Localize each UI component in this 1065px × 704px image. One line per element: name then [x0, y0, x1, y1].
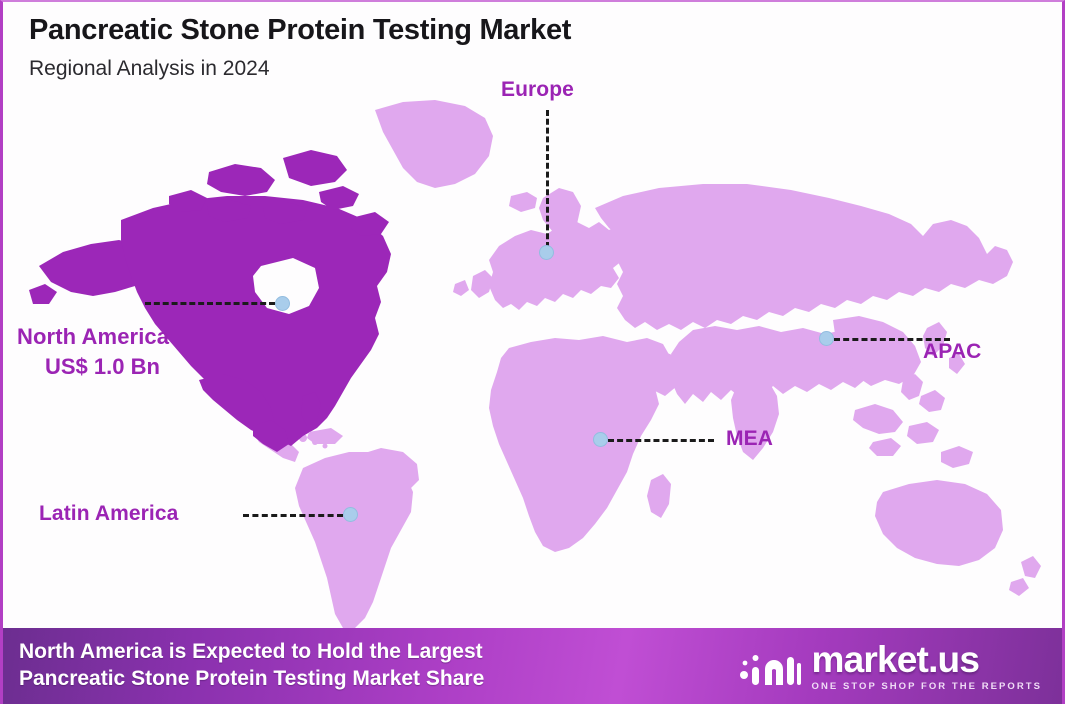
footer-headline: North America is Expected to Hold the La… [19, 639, 484, 692]
region-value-north-america: US$ 1.0 Bn [45, 354, 160, 380]
leader-line-latin-america [243, 514, 343, 517]
region-label-apac: APAC [923, 340, 981, 364]
brand-wordmark: market.us ONE STOP SHOP FOR THE REPORTS [812, 641, 1042, 692]
brand-tagline: ONE STOP SHOP FOR THE REPORTS [812, 681, 1042, 692]
leader-line-north-america [145, 302, 275, 305]
market-us-logo-icon [739, 643, 801, 689]
map-marker-apac[interactable] [819, 331, 834, 346]
page-title: Pancreatic Stone Protein Testing Market [29, 14, 571, 47]
map-marker-north-america[interactable] [275, 296, 290, 311]
region-label-mea: MEA [726, 427, 773, 451]
infographic-root: Pancreatic Stone Protein Testing Market … [0, 0, 1065, 704]
world-map-svg [3, 80, 1065, 628]
region-label-north-america: North America [17, 324, 169, 350]
footer-headline-line1: North America is Expected to Hold the La… [19, 639, 484, 666]
page-subtitle: Regional Analysis in 2024 [29, 57, 270, 81]
footer-banner: North America is Expected to Hold the La… [3, 628, 1065, 704]
map-marker-latin-america[interactable] [343, 507, 358, 522]
map-marker-europe[interactable] [539, 245, 554, 260]
region-label-latin-america: Latin America [39, 502, 178, 526]
footer-headline-line2: Pancreatic Stone Protein Testing Market … [19, 666, 484, 693]
region-label-europe: Europe [501, 78, 574, 102]
world-map-container [3, 80, 1065, 628]
brand-logo[interactable]: market.us ONE STOP SHOP FOR THE REPORTS [739, 641, 1042, 692]
brand-name: market.us [812, 641, 980, 678]
leader-line-europe [546, 110, 549, 248]
leader-line-mea [608, 439, 714, 442]
map-marker-mea[interactable] [593, 432, 608, 447]
